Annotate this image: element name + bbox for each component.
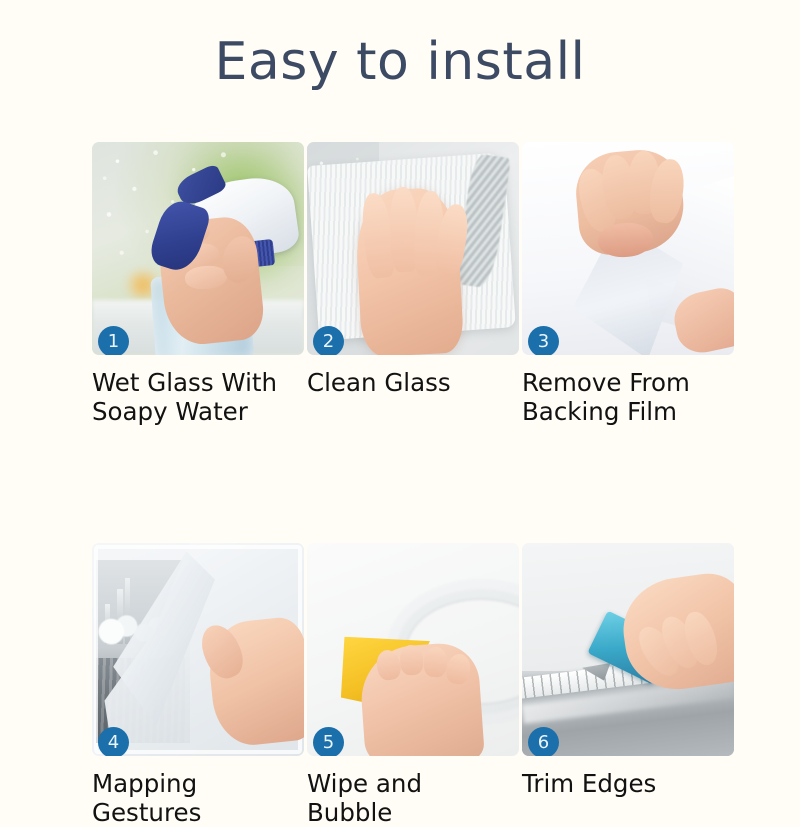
step-caption-4: Mapping Gestures [92,769,304,827]
step-image-6: 6 [522,543,734,756]
step-badge-2: 2 [313,326,344,355]
step-card-2: 2 Clean Glass [307,142,519,426]
step-badge-5: 5 [313,727,344,756]
step-image-3: 3 [522,142,734,355]
step-image-4: 4 [92,543,304,756]
step-badge-6: 6 [528,727,559,756]
step-card-4: 4 Mapping Gestures [92,543,304,827]
step-card-3: 3 Remove From Backing Film [522,142,734,426]
step-badge-3: 3 [528,326,559,355]
steps-grid: 1 Wet Glass With Soapy Water 2 Clean Gla… [92,142,732,827]
step-card-5: 5 Wipe and Bubble [307,543,519,827]
step-card-1: 1 Wet Glass With Soapy Water [92,142,304,426]
step-card-6: 6 Trim Edges [522,543,734,827]
knuckle [423,647,448,678]
step-image-2: 2 [307,142,519,355]
page-title: Easy to install [0,32,800,92]
step-image-1: 1 [92,142,304,355]
step-caption-5: Wipe and Bubble [307,769,519,827]
step-badge-4: 4 [98,727,129,756]
step-caption-1: Wet Glass With Soapy Water [92,368,304,426]
install-guide-page: Easy to install 1 [0,0,800,800]
step-caption-6: Trim Edges [522,769,734,798]
step-caption-2: Clean Glass [307,368,519,397]
step-badge-1: 1 [98,326,129,355]
step-caption-3: Remove From Backing Film [522,368,734,426]
step-image-5: 5 [307,543,519,756]
